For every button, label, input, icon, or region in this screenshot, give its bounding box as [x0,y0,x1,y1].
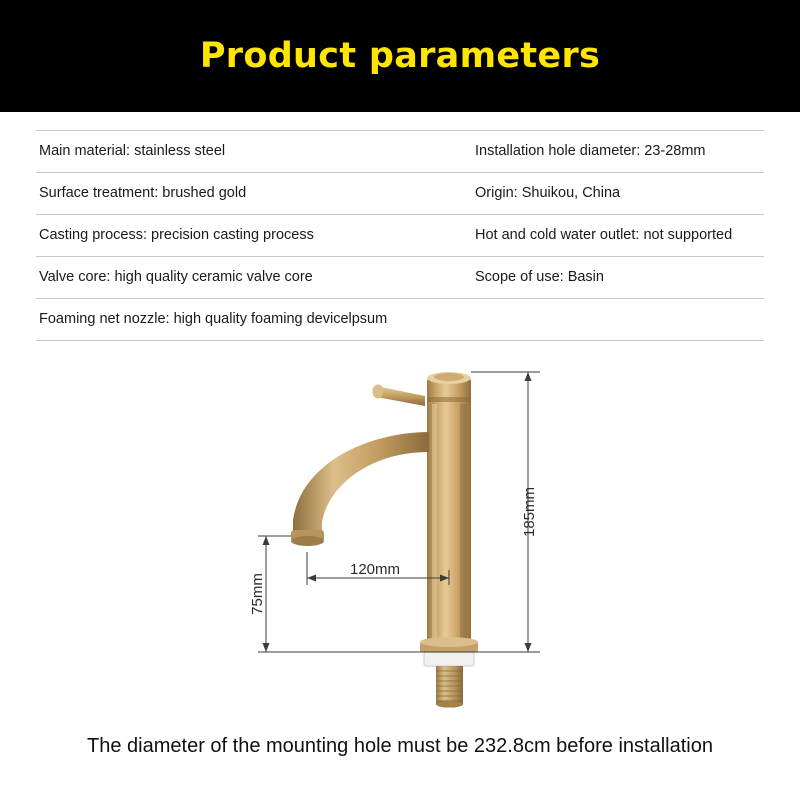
spec-water-outlet: Hot and cold water outlet: not supported [475,227,764,244]
installation-note: The diameter of the mounting hole must b… [0,735,800,758]
spec-casting-process: Casting process: precision casting proce… [36,227,475,244]
table-row: Surface treatment: brushed gold Origin: … [36,173,764,215]
spec-main-material: Main material: stainless steel [36,143,475,160]
table-row: Foaming net nozzle: high quality foaming… [36,299,764,341]
reach-dimension-label: 120mm [350,561,400,578]
table-row: Casting process: precision casting proce… [36,215,764,257]
spec-foaming-net-nozzle: Foaming net nozzle: high quality foaming… [36,311,764,328]
table-row: Valve core: high quality ceramic valve c… [36,257,764,299]
spec-table: Main material: stainless steel Installat… [36,130,764,341]
spec-valve-core: Valve core: high quality ceramic valve c… [36,269,475,286]
table-row: Main material: stainless steel Installat… [36,130,764,173]
spec-scope-of-use: Scope of use: Basin [475,269,764,286]
height-dimension-label: 185mm [521,487,538,537]
spec-origin: Origin: Shuikou, China [475,185,764,202]
header-bar: Product parameters [0,0,800,112]
page-title: Product parameters [200,36,600,76]
faucet-dimension-diagram: 185mm 75mm 120mm [0,340,800,730]
faucet-illustration [291,372,478,708]
spec-surface-treatment: Surface treatment: brushed gold [36,185,475,202]
spec-installation-hole-diameter: Installation hole diameter: 23-28mm [475,143,764,160]
product-parameters-page: Product parameters Main material: stainl… [0,0,800,800]
spout-height-dimension-label: 75mm [249,573,266,615]
